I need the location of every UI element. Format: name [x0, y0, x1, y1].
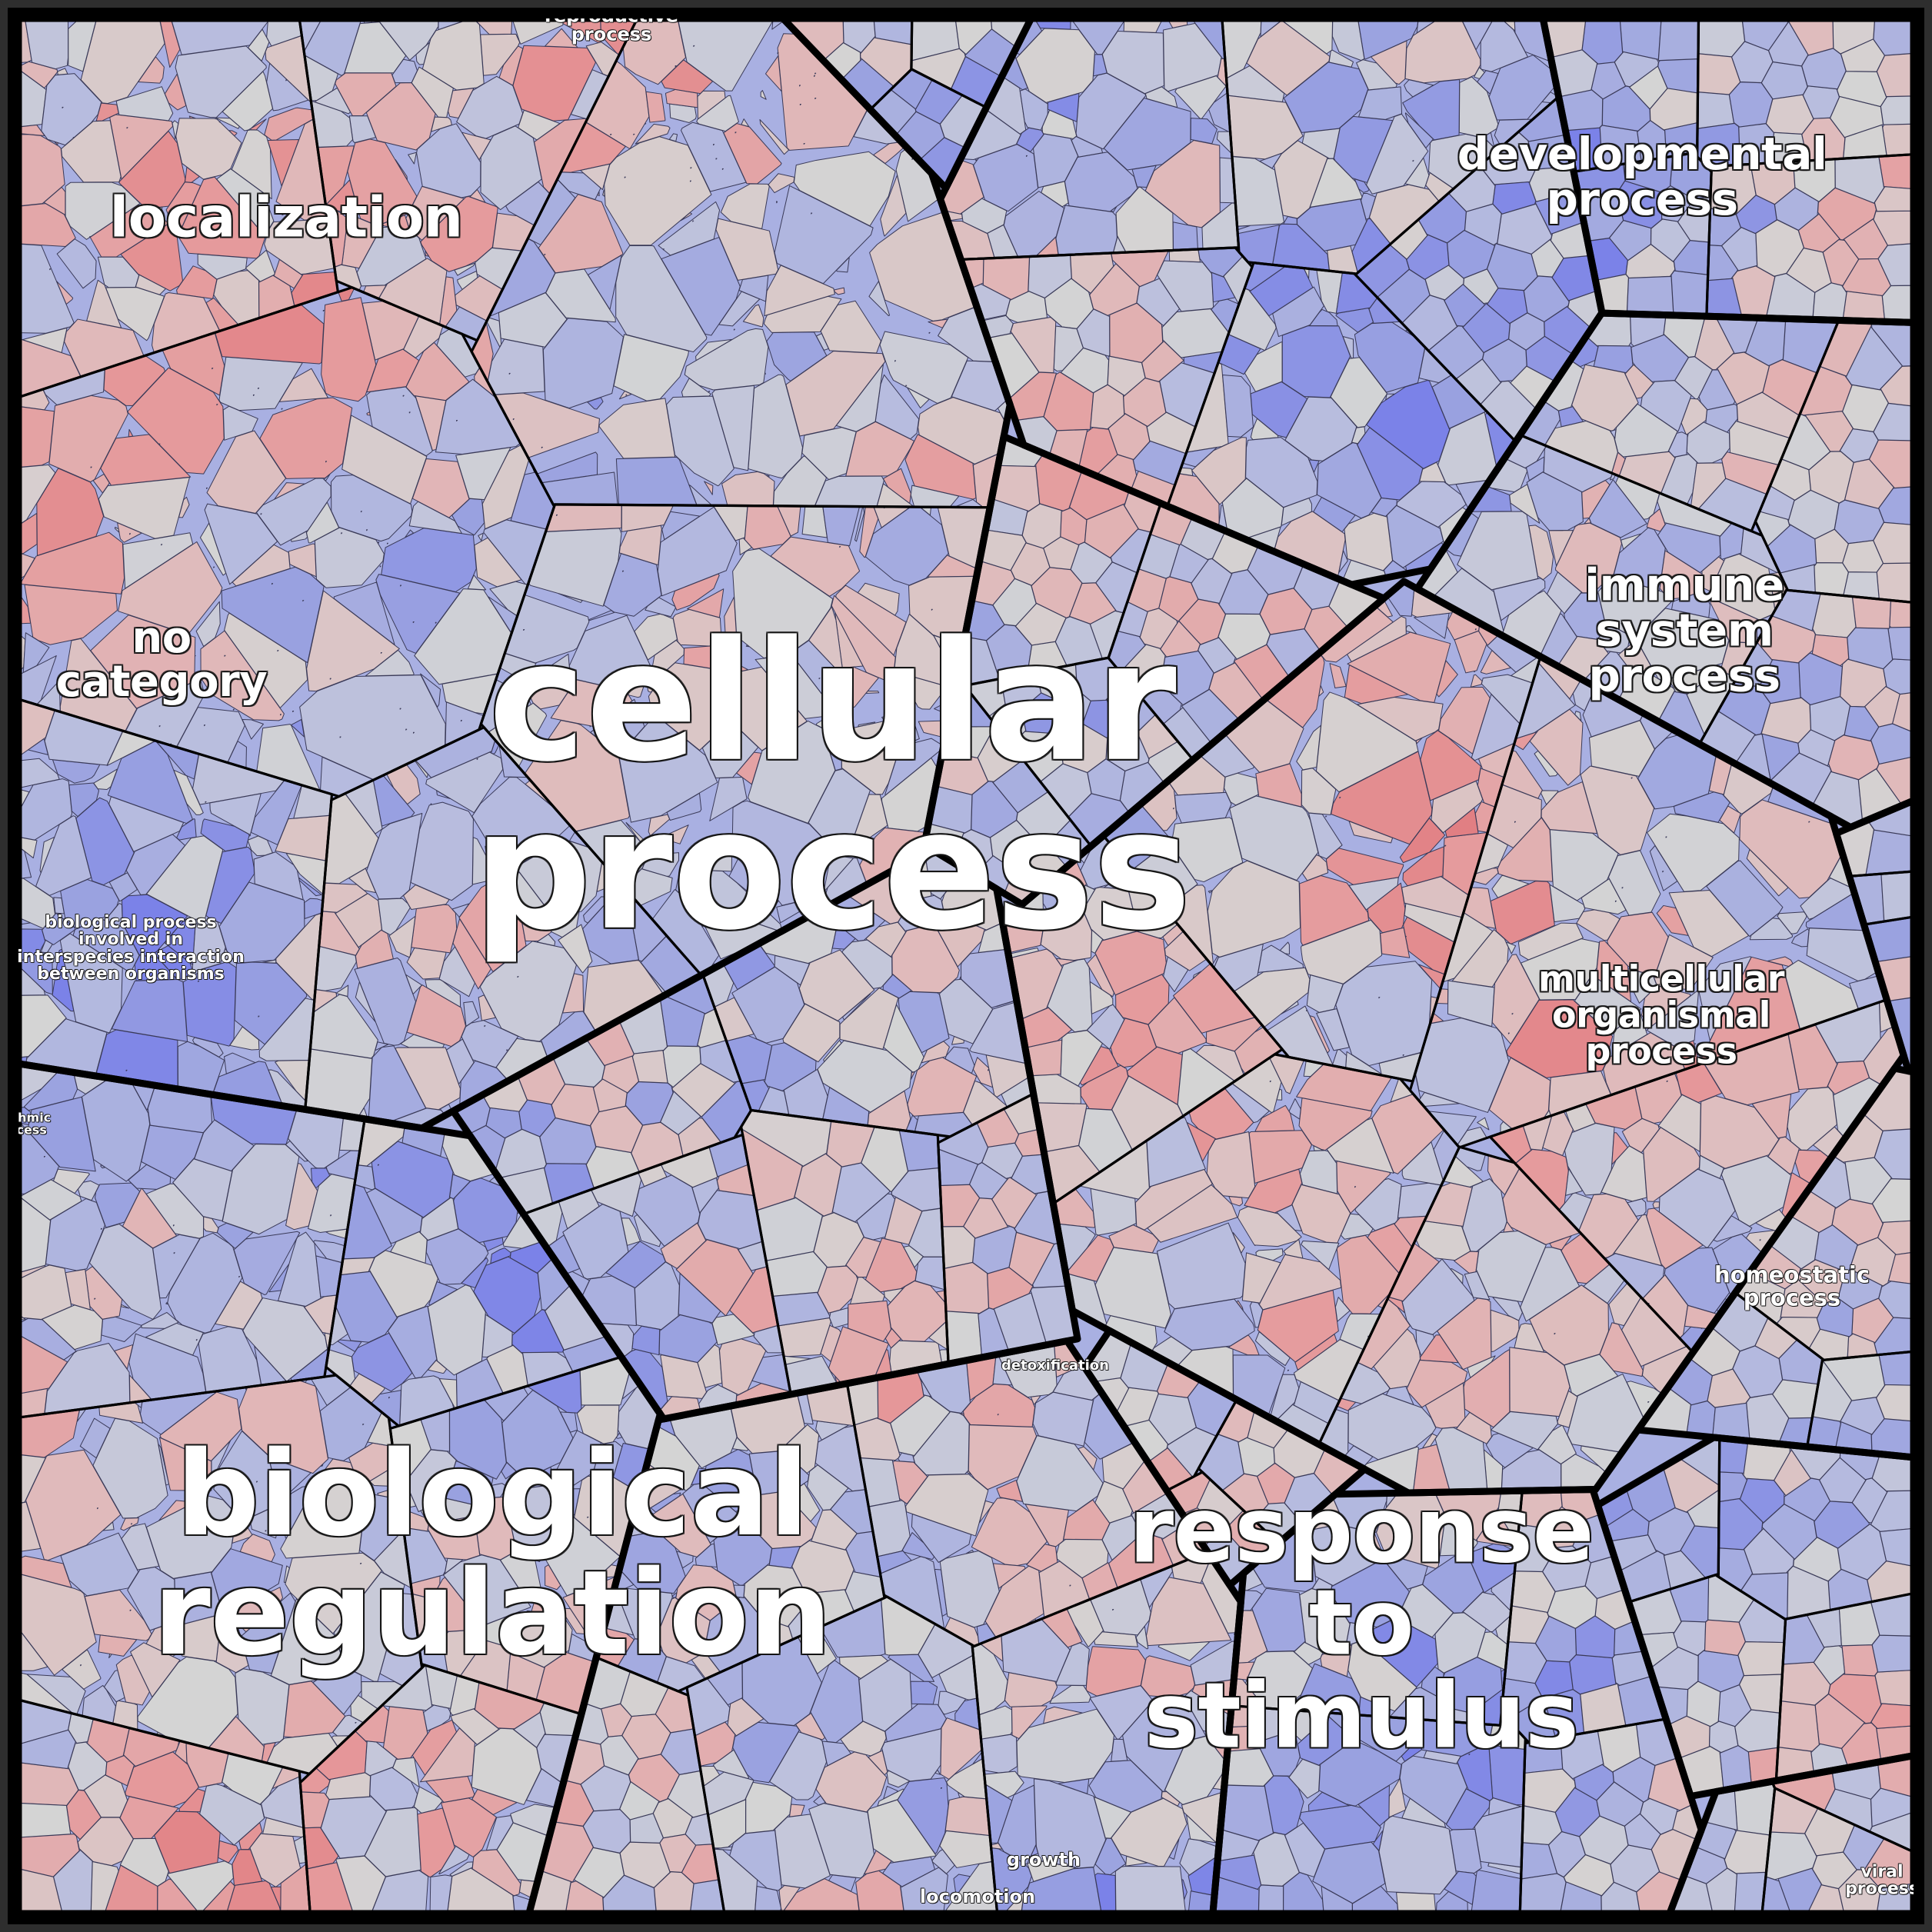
treemap-region-boundary[interactable] — [1597, 1437, 1914, 1797]
treemap-region-boundary[interactable] — [941, 18, 1602, 585]
treemap-region-boundary[interactable] — [529, 1341, 1241, 1914]
treemap-region-boundary[interactable] — [453, 849, 1078, 1419]
treemap-region-boundary[interactable] — [1213, 1490, 1701, 1914]
voronoi-level1-boundaries — [18, 18, 1914, 1914]
treemap-region-boundary[interactable] — [1084, 1331, 1364, 1585]
treemap-region-boundary[interactable] — [1638, 1068, 1914, 1457]
treemap-region-boundary[interactable] — [1836, 801, 1914, 1072]
treemap-region-boundary[interactable] — [783, 18, 1031, 188]
treemap-region-boundary[interactable] — [1543, 18, 1914, 322]
treemap-region-boundary[interactable] — [18, 18, 1010, 1128]
treemap-region-boundary[interactable] — [1417, 313, 1914, 828]
figure-canvas: cellular processbiological regulationres… — [0, 0, 1932, 1932]
voronoi-treemap-plot: cellular processbiological regulationres… — [18, 18, 1914, 1914]
treemap-region-boundary[interactable] — [1002, 581, 1904, 1493]
